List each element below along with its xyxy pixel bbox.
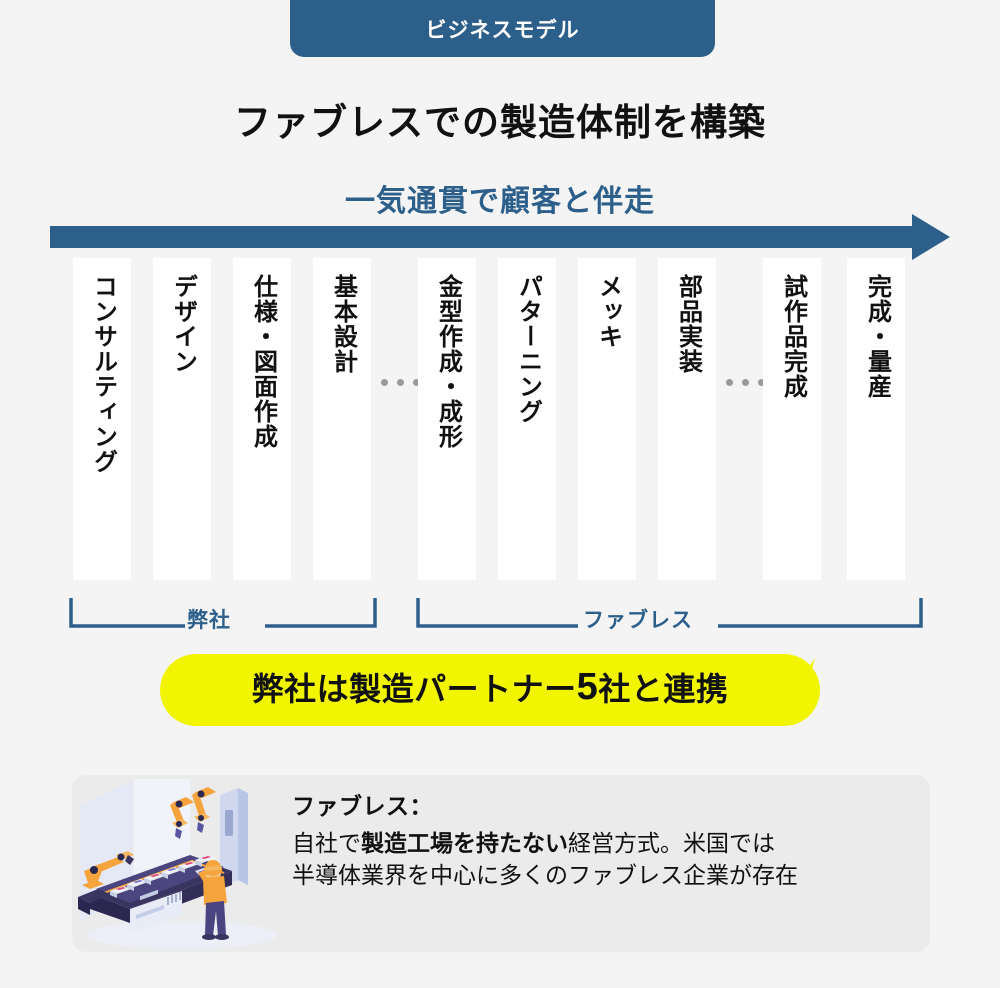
definition-line1-part1: 自社で xyxy=(292,830,361,856)
flow-step-9[interactable]: 試作品完成 xyxy=(763,258,821,580)
flow-step-label: 部品実装 xyxy=(674,274,701,580)
factory-automation-illustration xyxy=(72,775,287,957)
flow-step-label: 仕様・図面作成 xyxy=(249,274,276,580)
flow-step-label: 基本設計 xyxy=(329,274,356,580)
flow-step-8[interactable]: 部品実装 xyxy=(658,258,716,580)
callout-number: 5 xyxy=(577,666,599,709)
partner-callout-text: 弊社は製造パートナー5社と連携 xyxy=(160,648,820,726)
flow-step-label: デザイン xyxy=(169,274,196,580)
bracket-label-fabless: ファブレス xyxy=(583,604,693,634)
flow-separator-2 xyxy=(726,379,765,386)
group-brackets xyxy=(0,596,1000,642)
callout-text-before: 弊社は製造パートナー xyxy=(252,664,577,710)
definition-line1-part2: 経営方式。米国では xyxy=(568,830,775,856)
flow-step-2[interactable]: デザイン xyxy=(153,258,211,580)
flow-step-label: 金型作成・成形 xyxy=(434,274,461,580)
bracket-label-own-company: 弊社 xyxy=(187,604,231,634)
flow-step-6[interactable]: パターニング xyxy=(498,258,556,580)
separator-dot xyxy=(742,379,749,386)
separator-dot xyxy=(381,379,388,386)
definition-title: ファブレス： xyxy=(292,787,922,821)
definition-line-2: 半導体業界を中心に多くのファブレス企業が存在 xyxy=(292,860,922,892)
flow-separator-1 xyxy=(381,379,420,386)
page-title: ファブレスでの製造体制を構築 xyxy=(0,92,1000,146)
separator-dot xyxy=(726,379,733,386)
flow-step-5[interactable]: 金型作成・成形 xyxy=(418,258,476,580)
definition-line-1: 自社で製造工場を持たない経営方式。米国では xyxy=(292,828,922,860)
flow-step-label: パターニング xyxy=(514,274,541,580)
flow-step-label: メッキ xyxy=(594,274,621,580)
callout-text-after: 社と連携 xyxy=(598,664,728,710)
flow-step-3[interactable]: 仕様・図面作成 xyxy=(233,258,291,580)
flow-step-label: 完成・量産 xyxy=(863,274,890,580)
flow-step-label: 試作品完成 xyxy=(779,274,806,580)
flow-step-10[interactable]: 完成・量産 xyxy=(847,258,905,580)
flow-step-1[interactable]: コンサルティング xyxy=(73,258,131,580)
badge-label: ビジネスモデル xyxy=(426,14,580,44)
flow-step-label: コンサルティング xyxy=(89,274,116,580)
fabless-definition-text: ファブレス： 自社で製造工場を持たない経営方式。米国では 半導体業界を中心に多く… xyxy=(292,787,922,891)
definition-line1-bold: 製造工場を持たない xyxy=(361,830,568,856)
flow-step-7[interactable]: メッキ xyxy=(578,258,636,580)
process-flow: コンサルティング デザイン 仕様・図面作成 基本設計 金型作成・成形 パターニン… xyxy=(0,258,1000,580)
separator-dot xyxy=(397,379,404,386)
flow-step-4[interactable]: 基本設計 xyxy=(313,258,371,580)
business-model-badge: ビジネスモデル xyxy=(290,0,715,57)
